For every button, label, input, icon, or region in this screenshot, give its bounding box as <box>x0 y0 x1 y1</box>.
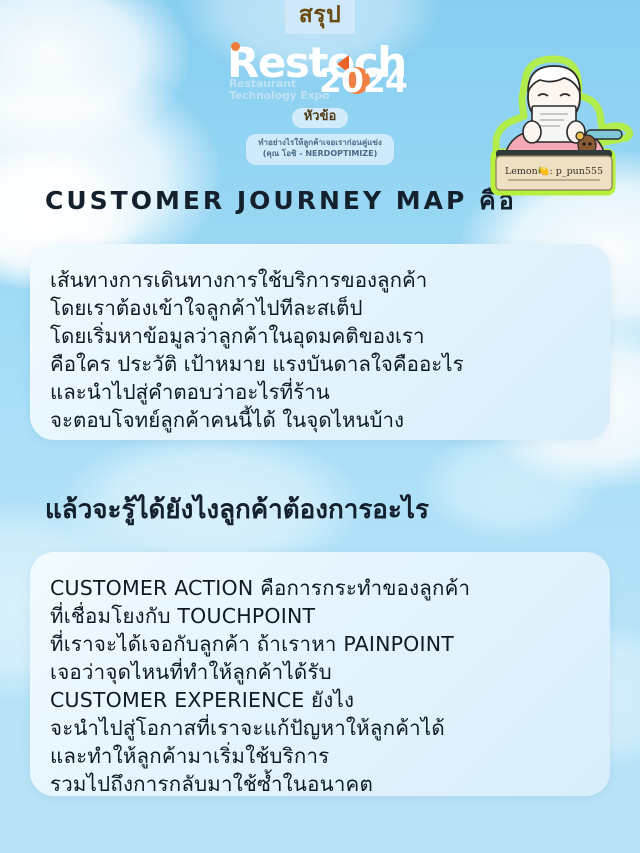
logo-subtitle-line2: Technology Expo <box>229 90 330 102</box>
speaker-illustration-svg: Lemon🍋: p_pun555 <box>474 52 634 197</box>
section-1-heading: CUSTOMER JOURNEY MAP คือ <box>45 188 517 213</box>
nameplate-text: Lemon🍋: p_pun555 <box>505 165 603 177</box>
logo-subtitle: Restaurant Technology Expo <box>229 78 330 101</box>
logo-dot-icon <box>231 42 240 51</box>
body-line: รวมไปถึงการกลับมาใช้ซ้ำในอนาคต <box>50 770 610 798</box>
body-line: จะตอบโจทย์ลูกค้าคนนี้ได้ ในจุดไหนบ้าง <box>50 406 610 434</box>
topic-speaker: (คุณ โอชิ - NERDOPTIMIZE) <box>258 149 382 160</box>
summary-badge: สรุป <box>285 0 356 34</box>
body-line: โดยเราต้องเข้าใจลูกค้าไปทีละสเต็ป <box>50 294 610 322</box>
topic-description: ทำอย่างไรให้ลูกค้าเจอเราก่อนคู่แข่ง (คุณ… <box>246 134 394 165</box>
logo-year-text: 2024 <box>319 61 407 100</box>
section-1-card: เส้นทางการเดินทางการใช้บริการของลูกค้า โ… <box>30 244 610 440</box>
section-2-card: CUSTOMER ACTION คือการกระทำของลูกค้า ที่… <box>30 552 610 796</box>
body-line: เจอว่าจุดไหนที่ทำให้ลูกค้าได้รับ <box>50 658 610 686</box>
section-2-heading: แล้วจะรู้ได้ยังไงลูกค้าต้องการอะไร <box>45 497 429 523</box>
body-line: เส้นทางการเดินทางการใช้บริการของลูกค้า <box>50 266 610 294</box>
logo-year: 2024 <box>319 64 407 97</box>
body-line: โดยเริ่มหาข้อมูลว่าลูกค้าในอุดมคติของเรา <box>50 322 610 350</box>
hand-left <box>523 121 541 143</box>
body-line: คือใคร ประวัติ เป้าหมาย แรงบันดาลใจคืออะ… <box>50 350 610 378</box>
speaker-illustration: Lemon🍋: p_pun555 <box>474 52 634 197</box>
cloud-decoration <box>420 430 600 540</box>
topic-badge: หัวข้อ <box>292 108 349 128</box>
body-line: CUSTOMER ACTION คือการกระทำของลูกค้า <box>50 574 610 602</box>
body-line: ที่เชื่อมโยงกับ TOUCHPOINT <box>50 602 610 630</box>
body-line: และนำไปสู่คำตอบว่าอะไรที่ร้าน <box>50 378 610 406</box>
body-line: และทำให้ลูกค้ามาเริ่มใช้บริการ <box>50 742 610 770</box>
body-line: CUSTOMER EXPERIENCE ยังไง <box>50 686 610 714</box>
body-line: ที่เราจะได้เจอกับลูกค้า ถ้าเราหา PAINPOI… <box>50 630 610 658</box>
restech-logo: Restech 2024 Restaurant Technology Expo <box>215 44 425 102</box>
logo-subtitle-line1: Restaurant <box>229 78 330 90</box>
body-line: จะนำไปสู่โอกาสที่เราจะแก้ปัญหาให้ลูกค้าไ… <box>50 714 610 742</box>
topic-title: ทำอย่างไรให้ลูกค้าเจอเราก่อนคู่แข่ง <box>258 138 382 149</box>
